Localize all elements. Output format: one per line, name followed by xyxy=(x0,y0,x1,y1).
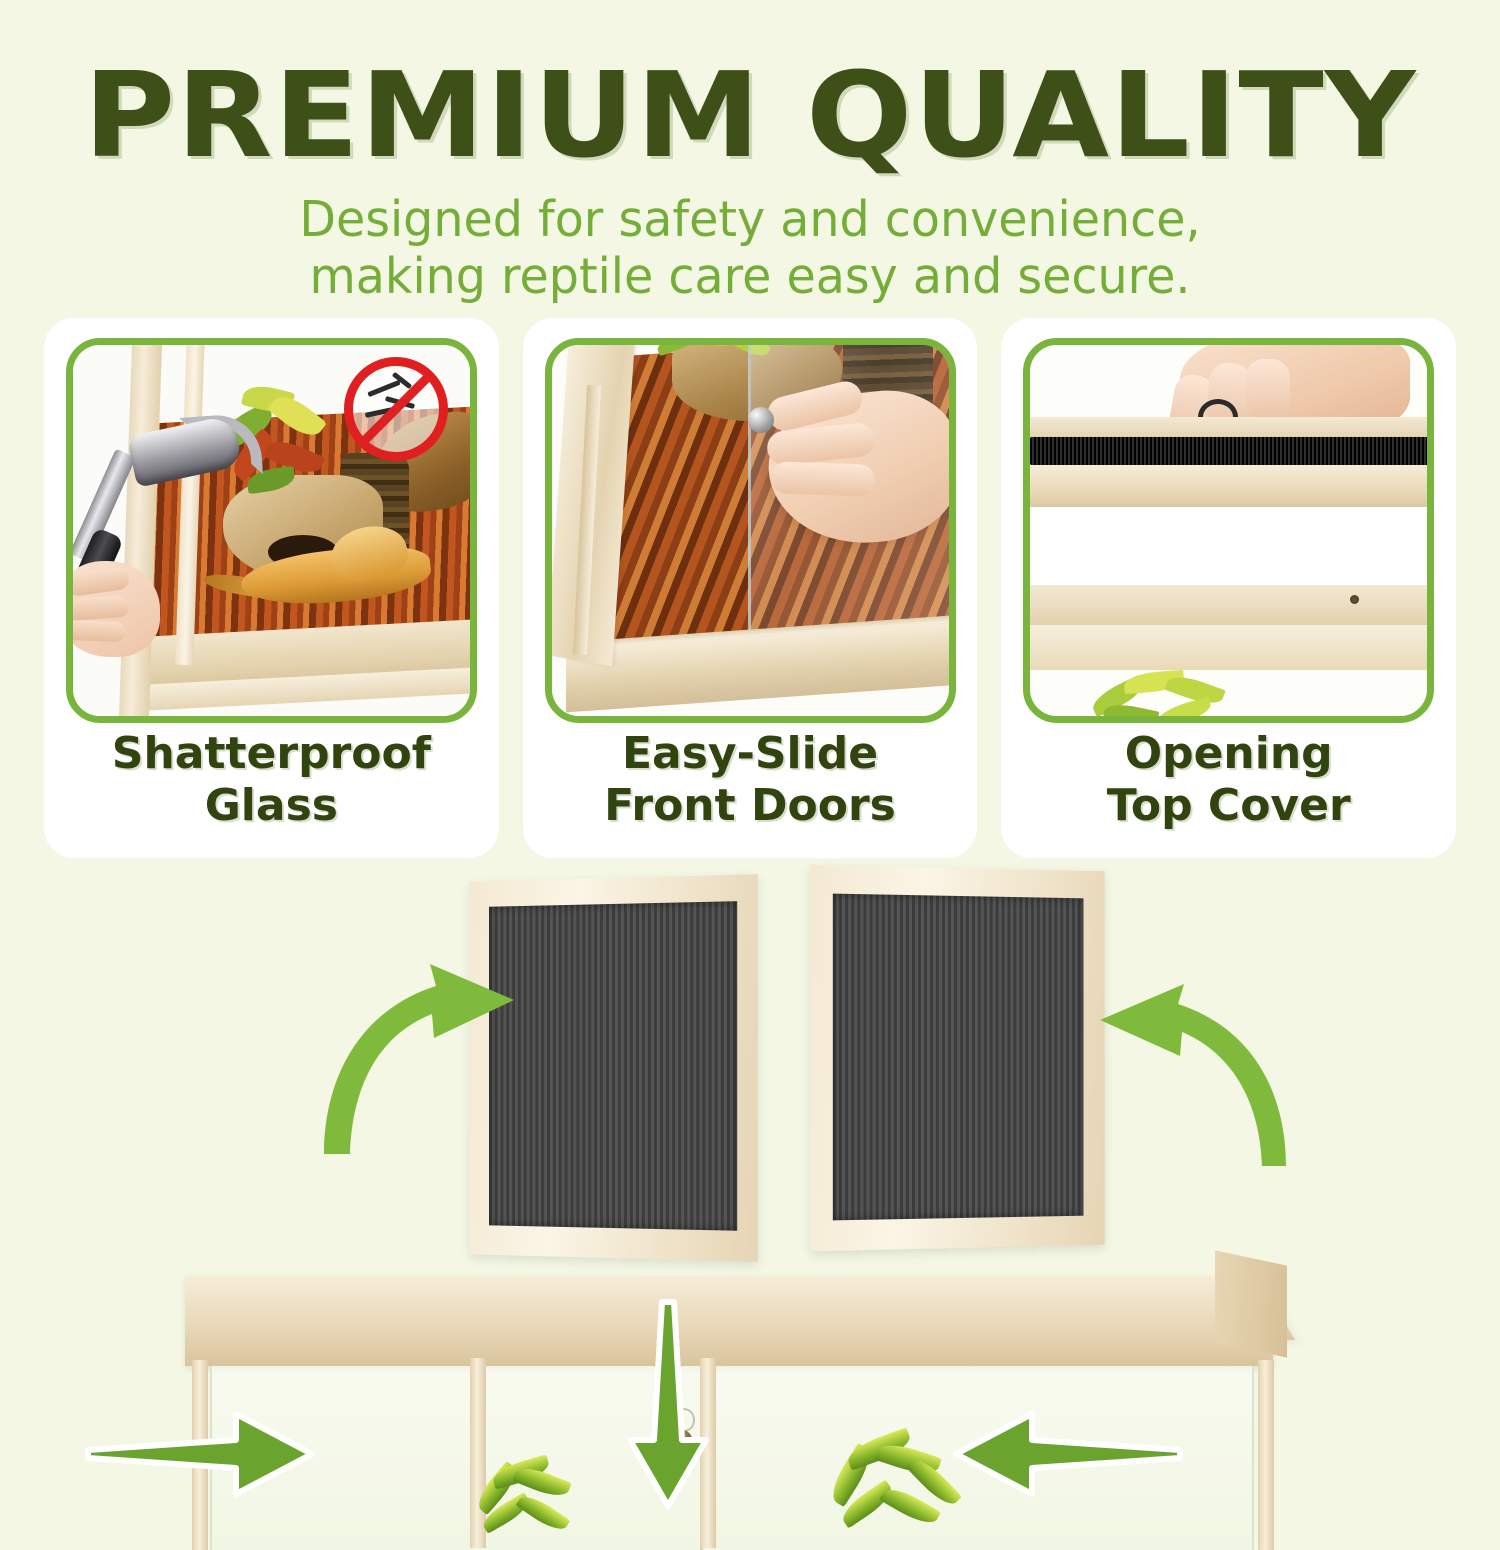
subtitle-line-2: making reptile care easy and secure. xyxy=(23,249,1478,306)
mesh-lid-right[interactable] xyxy=(810,865,1104,1252)
arrow-right-side xyxy=(952,1406,1182,1502)
feature-card-easy-slide-front-doors[interactable]: Easy-Slide Front Doors xyxy=(523,318,978,858)
feature-card-opening-top-cover[interactable]: Opening Top Cover xyxy=(1001,318,1456,858)
door-knob-icon xyxy=(748,407,774,433)
arrow-left-side xyxy=(86,1406,316,1502)
easy-slide-doors-photo xyxy=(545,338,956,723)
terrarium-leg xyxy=(470,1358,486,1548)
card-label-line-1: Easy-Slide xyxy=(523,728,978,780)
card-label-line-2: Front Doors xyxy=(523,780,978,832)
subtitle-line-1: Designed for safety and convenience, xyxy=(23,192,1478,249)
feature-card-label: Opening Top Cover xyxy=(1001,728,1456,832)
feature-card-label: Shatterproof Glass xyxy=(44,728,499,832)
plant-decor-icon xyxy=(1080,666,1260,716)
mesh-screen xyxy=(833,894,1084,1221)
card-label-line-1: Shatterproof xyxy=(44,728,499,780)
curved-arrow-right-lid xyxy=(1092,980,1292,1170)
arrow-front-door xyxy=(620,1300,716,1510)
card-label-line-2: Glass xyxy=(44,780,499,832)
header: PREMIUM QUALITY Designed for safety and … xyxy=(0,0,1500,306)
page-subtitle: Designed for safety and convenience, mak… xyxy=(23,178,1478,306)
terrarium-side-rail xyxy=(1215,1250,1287,1357)
product-hero-image xyxy=(0,860,1500,1500)
page-title: PREMIUM QUALITY xyxy=(0,0,1500,178)
card-label-line-2: Top Cover xyxy=(1001,780,1456,832)
feature-card-label: Easy-Slide Front Doors xyxy=(523,728,978,832)
opening-top-cover-photo xyxy=(1023,338,1434,723)
terrarium-front-rail xyxy=(185,1276,1273,1366)
terrarium-leg xyxy=(1258,1360,1274,1550)
curved-arrow-left-lid xyxy=(318,958,528,1158)
feature-cards: Shatterproof Glass xyxy=(44,318,1456,858)
card-label-line-1: Opening xyxy=(1001,728,1456,780)
no-crack-icon xyxy=(344,357,448,461)
shatterproof-glass-photo xyxy=(66,338,477,723)
feature-card-shatterproof-glass[interactable]: Shatterproof Glass xyxy=(44,318,499,858)
mesh-screen xyxy=(1030,437,1427,465)
